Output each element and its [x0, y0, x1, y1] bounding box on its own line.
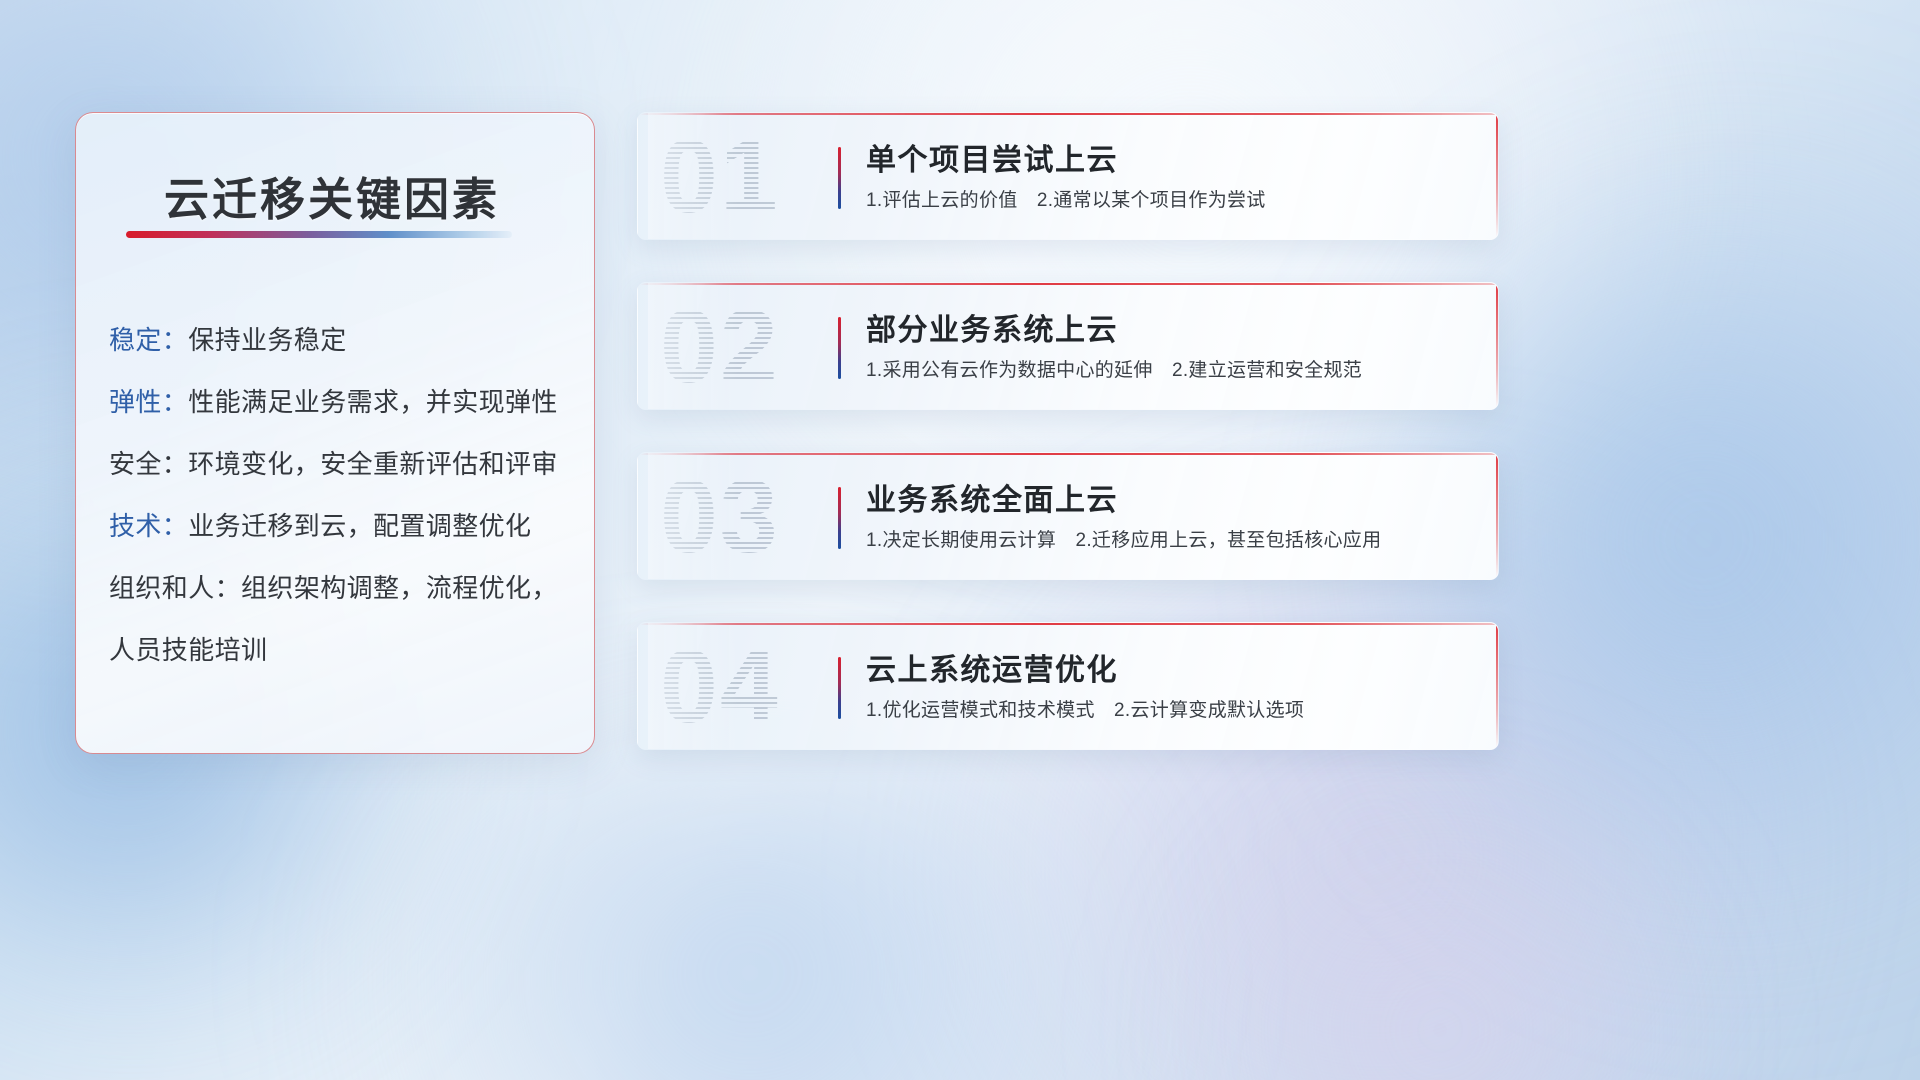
- stage-accent-bar: [838, 487, 841, 549]
- stage-title: 部分业务系统上云: [866, 305, 1118, 349]
- list-item: 组织和人：组织架构调整，流程优化，: [109, 557, 576, 619]
- list-item-label: 安全：: [109, 449, 188, 479]
- stage-number-watermark: 04: [660, 622, 780, 750]
- list-item-label: 技术：: [109, 511, 188, 541]
- list-item: 安全：环境变化，安全重新评估和评审: [109, 433, 576, 495]
- stage-subtitle: 1.决定长期使用云计算 2.迁移应用上云，甚至包括核心应用: [866, 525, 1381, 552]
- list-item-value: 业务迁移到云，配置调整优化: [188, 511, 531, 541]
- list-item-label: 组织和人：: [109, 573, 241, 603]
- stage-card[interactable]: 02 部分业务系统上云 1.采用公有云作为数据中心的延伸 2.建立运营和安全规范: [637, 282, 1499, 410]
- stage-subtitle: 1.评估上云的价值 2.通常以某个项目作为尝试: [866, 185, 1266, 212]
- stage-title: 业务系统全面上云: [866, 475, 1118, 519]
- stage-title: 云上系统运营优化: [866, 645, 1118, 689]
- key-factors-panel: 云迁移关键因素 稳定：保持业务稳定 弹性：性能满足业务需求，并实现弹性 安全：环…: [75, 112, 595, 754]
- stage-number-watermark: 03: [660, 452, 780, 580]
- stage-title: 单个项目尝试上云: [866, 135, 1118, 179]
- stage-accent-bar: [838, 657, 841, 719]
- stage-number-watermark: 02: [660, 282, 780, 410]
- list-item-value: 保持业务稳定: [188, 325, 346, 355]
- list-item-value: 组织架构调整，流程优化，: [241, 573, 558, 603]
- stage-card[interactable]: 03 业务系统全面上云 1.决定长期使用云计算 2.迁移应用上云，甚至包括核心应…: [637, 452, 1499, 580]
- list-item-label: 稳定：: [109, 325, 188, 355]
- stage-number-watermark: 01: [660, 112, 780, 240]
- list-item-continuation: 人员技能培训: [109, 619, 576, 681]
- stage-subtitle: 1.采用公有云作为数据中心的延伸 2.建立运营和安全规范: [866, 355, 1362, 382]
- list-item-value: 人员技能培训: [109, 635, 267, 665]
- key-factors-list: 稳定：保持业务稳定 弹性：性能满足业务需求，并实现弹性 安全：环境变化，安全重新…: [109, 309, 576, 681]
- page-title: 云迁移关键因素: [164, 163, 500, 228]
- list-item-value: 性能满足业务需求，并实现弹性: [188, 387, 558, 417]
- stage-card[interactable]: 04 云上系统运营优化 1.优化运营模式和技术模式 2.云计算变成默认选项: [637, 622, 1499, 750]
- list-item-label: 弹性：: [109, 387, 188, 417]
- stages-card-list: 01 单个项目尝试上云 1.评估上云的价值 2.通常以某个项目作为尝试 02 部…: [637, 112, 1499, 792]
- stage-card[interactable]: 01 单个项目尝试上云 1.评估上云的价值 2.通常以某个项目作为尝试: [637, 112, 1499, 240]
- title-underline-rule: [126, 231, 512, 238]
- stage-accent-bar: [838, 147, 841, 209]
- list-item-value: 环境变化，安全重新评估和评审: [188, 449, 558, 479]
- stage-subtitle: 1.优化运营模式和技术模式 2.云计算变成默认选项: [866, 695, 1304, 722]
- list-item: 技术：业务迁移到云，配置调整优化: [109, 495, 576, 557]
- list-item: 弹性：性能满足业务需求，并实现弹性: [109, 371, 576, 433]
- list-item: 稳定：保持业务稳定: [109, 309, 576, 371]
- stage-accent-bar: [838, 317, 841, 379]
